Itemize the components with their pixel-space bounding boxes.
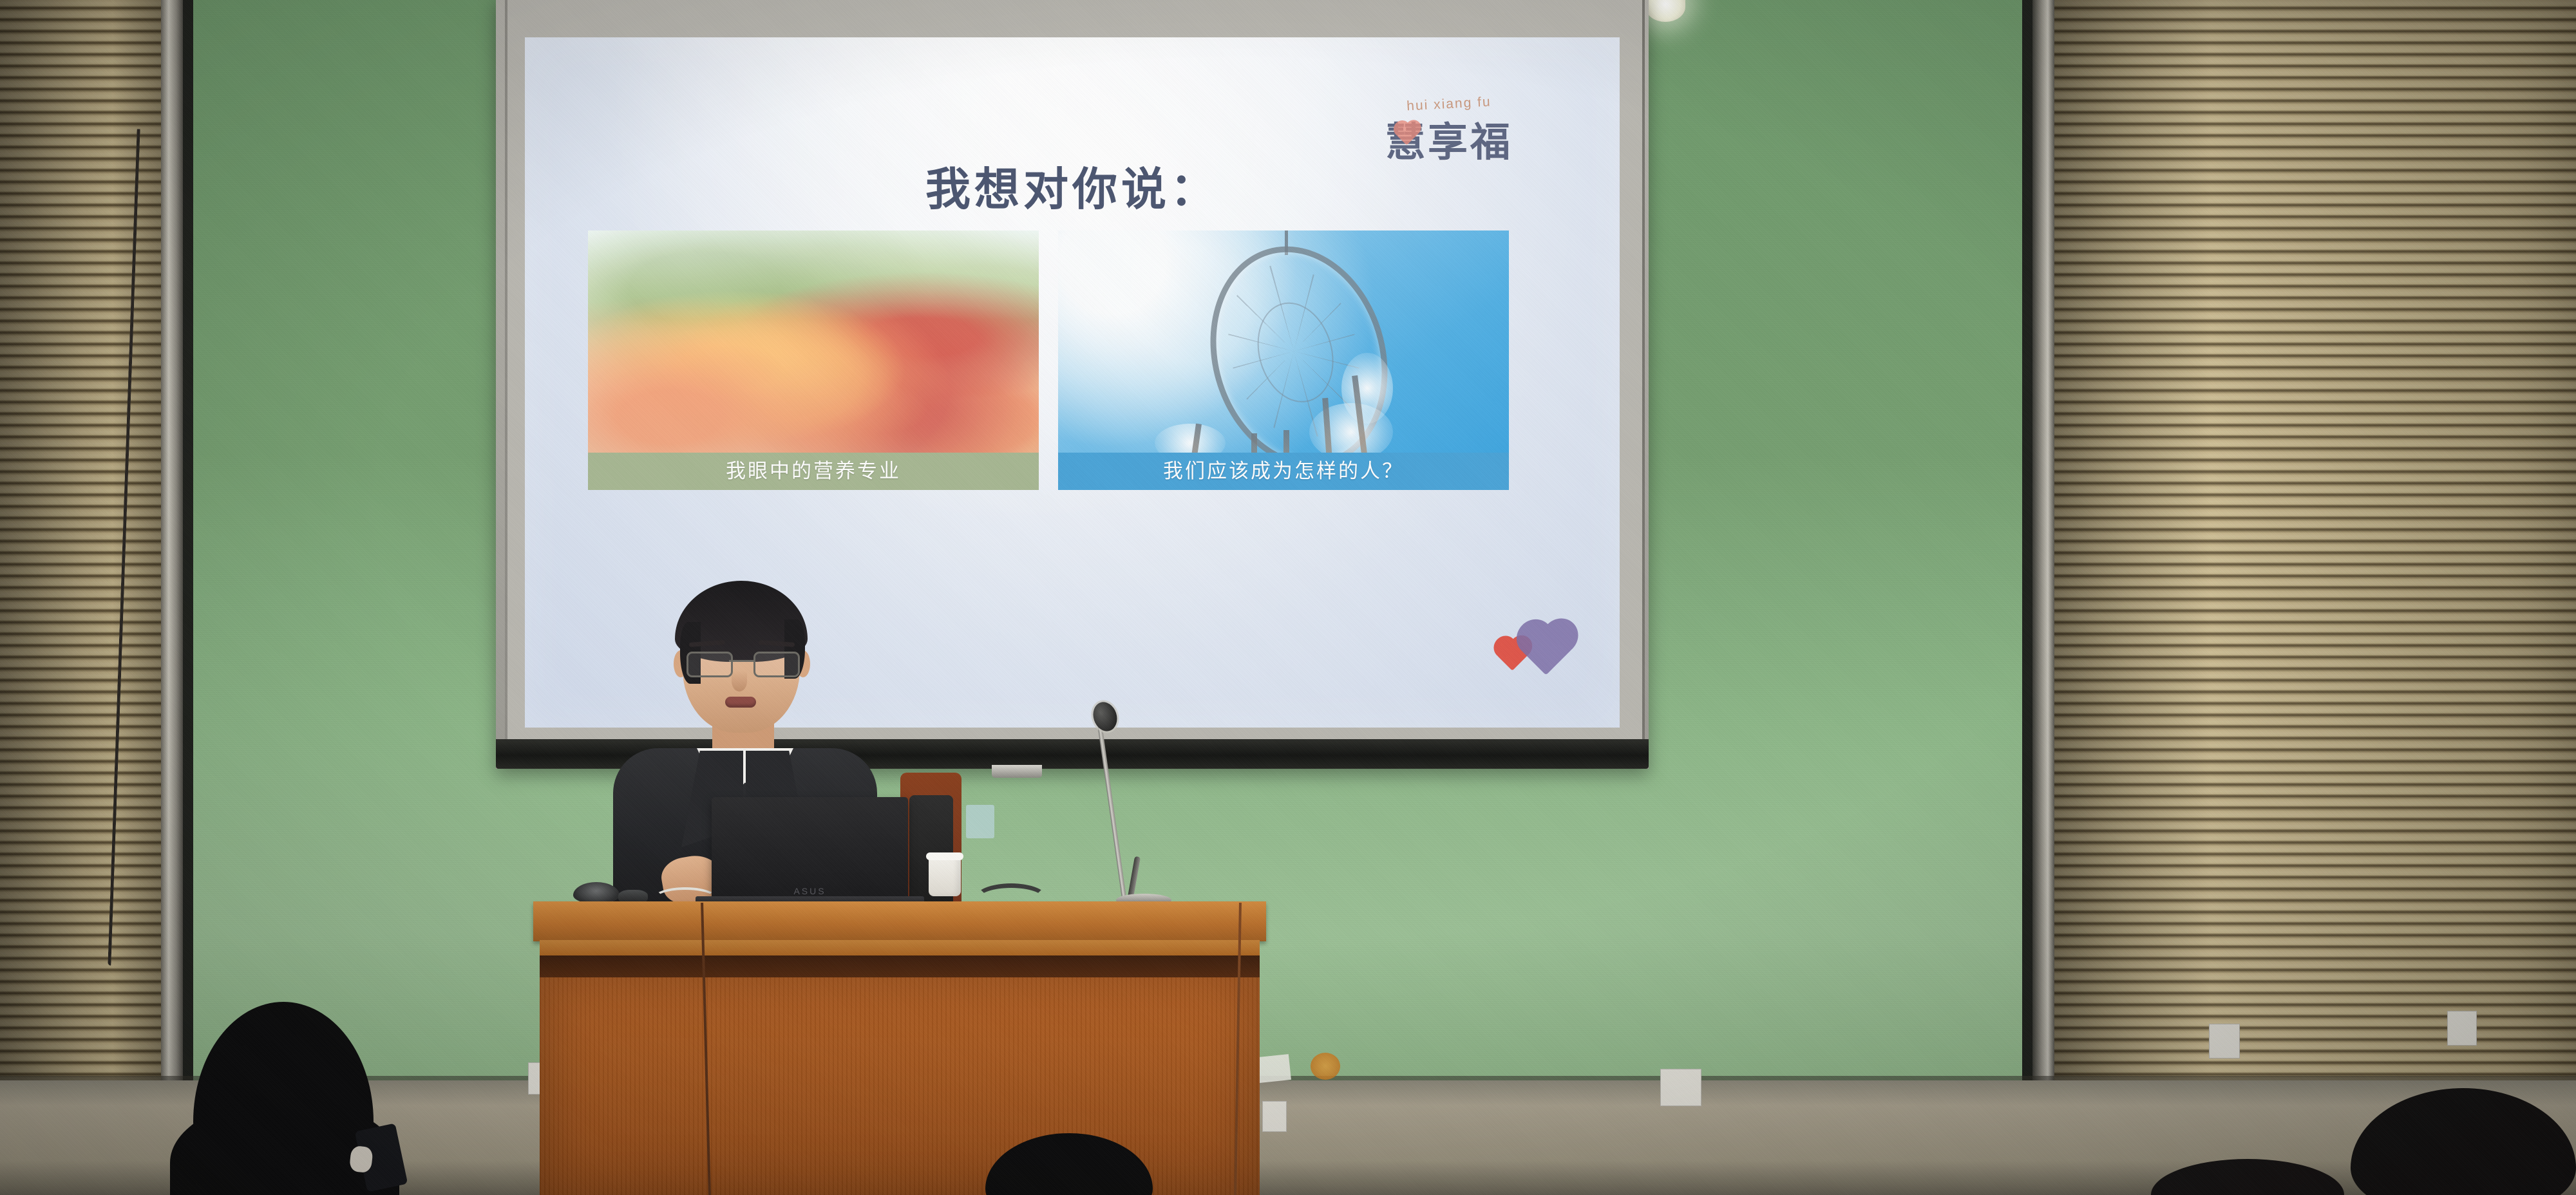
glasses-bridge — [729, 660, 753, 662]
paper-cup[interactable] — [929, 856, 961, 896]
feather — [1283, 430, 1289, 453]
wall-socket — [1262, 1101, 1287, 1132]
metal-edge-strip-right — [2032, 0, 2054, 1195]
wall-socket — [1660, 1069, 1701, 1106]
glasses-lens-right — [753, 652, 800, 677]
wall-seam-right — [2022, 0, 2032, 1195]
wall-seam-left — [183, 0, 193, 1195]
laptop[interactable]: ASUS — [712, 797, 908, 907]
photo-wash — [588, 231, 1039, 453]
wood-slat-panel-right-shading — [2054, 0, 2576, 1195]
podium-top — [533, 901, 1266, 941]
presenter-mouth — [725, 697, 756, 708]
laptop-brand-label: ASUS — [793, 886, 826, 896]
lecture-hall-photo: hui xiang fu 慧享福 我想对你说： 我眼中的营养专业 — [0, 0, 2576, 1195]
presenter-hair — [675, 581, 808, 662]
glasses-icon — [684, 652, 800, 673]
vegetables-photo — [588, 231, 1039, 453]
desk-accessory[interactable] — [573, 882, 620, 904]
feather-fluff — [1155, 424, 1226, 453]
heart-icon-purple — [1521, 624, 1572, 675]
slide-panel-left: 我眼中的营养专业 — [588, 231, 1039, 490]
twin-hearts-logo — [1497, 626, 1581, 671]
glasses-lens-left — [687, 652, 733, 677]
wall-fitting — [966, 805, 994, 838]
slide-title: 我想对你说： — [525, 153, 1620, 218]
feather-fluff — [1341, 353, 1393, 424]
presenter-nose — [732, 671, 747, 692]
slide-panel-right: 我们应该成为怎样的人？ — [1058, 231, 1509, 490]
wall-socket — [2209, 1024, 2240, 1059]
feather — [1251, 433, 1257, 453]
podium-shadow-band — [540, 955, 1260, 979]
wall-sticker — [1311, 1053, 1340, 1080]
dreamcatcher-photo — [1058, 231, 1509, 453]
slide-caption-left: 我眼中的营养专业 — [588, 453, 1039, 490]
podium-lip — [540, 940, 1260, 957]
slide-caption-right: 我们应该成为怎样的人？ — [1058, 453, 1509, 490]
wall-socket — [2447, 1011, 2477, 1046]
metal-edge-strip-left — [161, 0, 183, 1195]
podium-body — [540, 977, 1260, 1195]
projection-screen-pull-tab[interactable] — [992, 765, 1042, 778]
